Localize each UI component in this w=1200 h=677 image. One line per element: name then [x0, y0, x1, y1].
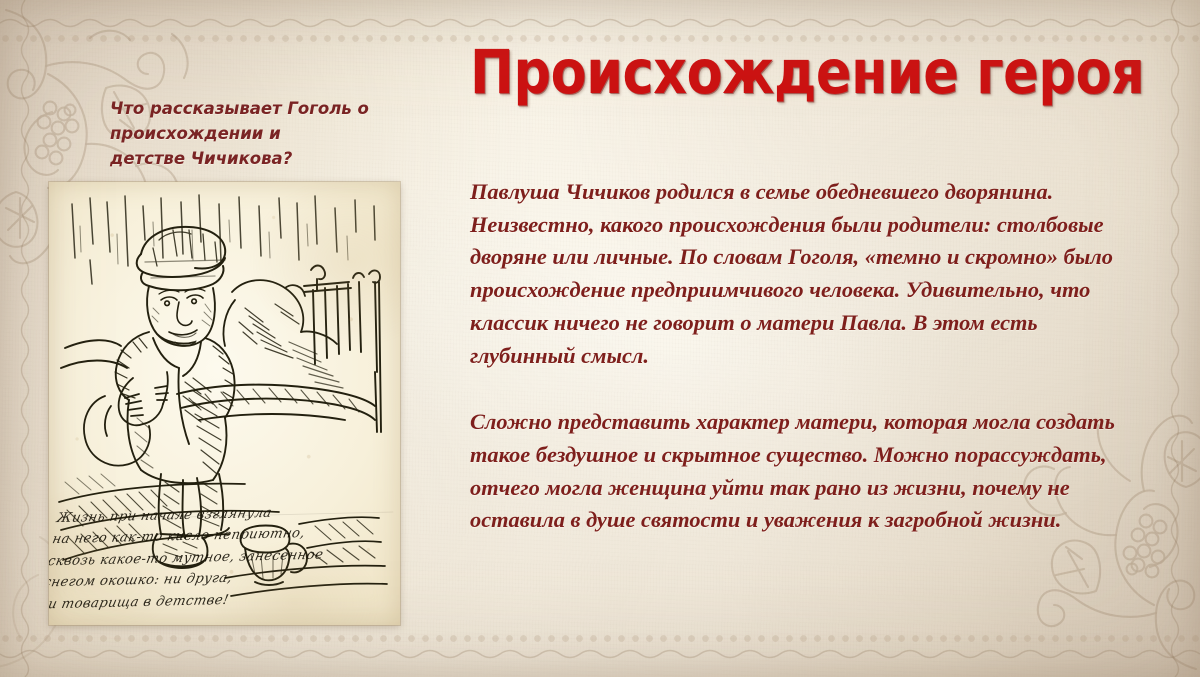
question-line-2: происхождении и — [110, 121, 410, 146]
beaded-border-bottom — [0, 633, 1200, 644]
body-paragraph-2: Сложно представить характер матери, кото… — [470, 406, 1118, 537]
question-block: Что рассказывает Гоголь о происхождении … — [110, 96, 410, 171]
body-text: Павлуша Чичиков родился в семье обедневш… — [470, 176, 1118, 537]
illustration-card: Жизнь при начале взглянула на него как-т… — [49, 182, 400, 625]
question-line-3: детстве Чичикова? — [110, 146, 410, 171]
wavy-border-left — [16, 0, 34, 677]
body-paragraph-1: Павлуша Чичиков родился в семье обедневш… — [470, 176, 1118, 372]
question-line-1: Что рассказывает Гоголь о — [110, 96, 410, 121]
handwritten-caption: Жизнь при начале взглянула на него как-т… — [49, 500, 391, 616]
page-title: Происхождение героя — [470, 42, 1072, 103]
wavy-border-right — [1166, 0, 1184, 677]
slide-canvas: Происхождение героя Что рассказывает Гог… — [0, 0, 1200, 677]
wavy-border-top — [0, 14, 1200, 32]
wavy-border-bottom — [0, 645, 1200, 663]
